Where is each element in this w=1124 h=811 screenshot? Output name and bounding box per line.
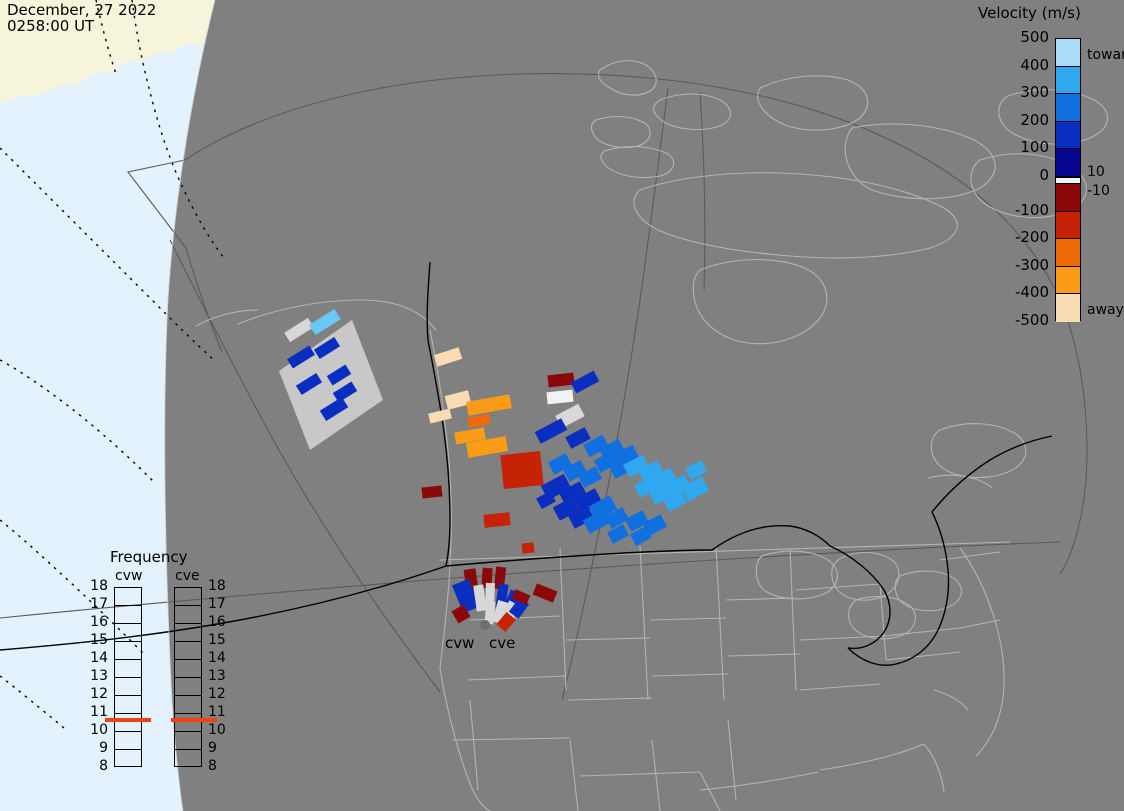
velocity-band-5 xyxy=(1056,184,1080,212)
velocity-band-3 xyxy=(1056,122,1080,150)
frequency-segment-0 xyxy=(115,588,141,606)
velocity-tick-400: 400 xyxy=(989,58,1049,73)
frequency-segment-6 xyxy=(115,696,141,714)
velocity-band-6 xyxy=(1056,212,1080,240)
frequency-tick-right-15: 15 xyxy=(208,633,234,647)
velocity-legend-title: Velocity (m/s) xyxy=(978,4,1081,22)
frequency-segment-7 xyxy=(175,714,201,732)
frequency-tick-left-17: 17 xyxy=(82,597,108,611)
frequency-tick-left-12: 12 xyxy=(82,687,108,701)
frequency-segment-6 xyxy=(175,696,201,714)
frequency-segment-4 xyxy=(115,660,141,678)
site-label-cvw: cvw xyxy=(445,634,474,652)
velocity-band-0 xyxy=(1056,39,1080,67)
frequency-segment-9 xyxy=(115,750,141,768)
frequency-segment-9 xyxy=(175,750,201,768)
velocity-tick--300: -300 xyxy=(989,258,1049,273)
velocity-tick-300: 300 xyxy=(989,85,1049,100)
frequency-bar-cve[interactable] xyxy=(174,587,202,767)
frequency-tick-right-16: 16 xyxy=(208,615,234,629)
velocity-tick--500: -500 xyxy=(989,313,1049,328)
velocity-band-9 xyxy=(1056,294,1080,322)
frequency-segment-5 xyxy=(175,678,201,696)
frequency-column-title-cvw: cvw xyxy=(115,568,142,584)
frequency-bar-cvw[interactable] xyxy=(114,587,142,767)
velocity-band-1 xyxy=(1056,67,1080,95)
frequency-tick-left-14: 14 xyxy=(82,651,108,665)
velocity-band-7 xyxy=(1056,239,1080,267)
frequency-segment-2 xyxy=(175,624,201,642)
frequency-segment-2 xyxy=(115,624,141,642)
velocity-band-4 xyxy=(1056,149,1080,177)
site-label-cve: cve xyxy=(489,634,515,652)
velocity-away-label: away xyxy=(1087,303,1124,317)
frequency-segment-3 xyxy=(115,642,141,660)
frequency-segment-1 xyxy=(115,606,141,624)
velocity-tick-500: 500 xyxy=(989,30,1049,45)
velocity-toward-label: toward xyxy=(1087,48,1124,62)
velocity-zero-band xyxy=(1056,177,1080,184)
frequency-tick-right-17: 17 xyxy=(208,597,234,611)
frequency-marker-cvw xyxy=(105,718,151,722)
radar-site-marker[interactable] xyxy=(480,620,490,630)
frequency-tick-left-10: 10 xyxy=(82,723,108,737)
frequency-tick-right-8: 8 xyxy=(208,759,234,773)
frequency-tick-left-16: 16 xyxy=(82,615,108,629)
frequency-tick-left-9: 9 xyxy=(82,741,108,755)
frequency-tick-right-10: 10 xyxy=(208,723,234,737)
frequency-segment-8 xyxy=(115,732,141,750)
velocity-tick--100: -100 xyxy=(989,203,1049,218)
frequency-tick-right-12: 12 xyxy=(208,687,234,701)
velocity-tick--400: -400 xyxy=(989,285,1049,300)
frequency-tick-right-13: 13 xyxy=(208,669,234,683)
frequency-tick-right-18: 18 xyxy=(208,579,234,593)
frequency-tick-left-13: 13 xyxy=(82,669,108,683)
radar-site-layer xyxy=(0,0,1124,811)
frequency-segment-8 xyxy=(175,732,201,750)
superdarn-map-view: cvw cve December, 27 2022 0258:00 UT Vel… xyxy=(0,0,1124,811)
timestamp-text: December, 27 2022 0258:00 UT xyxy=(7,2,156,34)
frequency-segment-7 xyxy=(115,714,141,732)
frequency-tick-right-14: 14 xyxy=(208,651,234,665)
frequency-legend-title: Frequency xyxy=(110,548,188,566)
frequency-segment-5 xyxy=(115,678,141,696)
frequency-column-title-cve: cve xyxy=(175,568,200,584)
velocity-tick-0: 0 xyxy=(989,168,1049,183)
frequency-tick-left-8: 8 xyxy=(82,759,108,773)
velocity-zero-upper-label: 10 xyxy=(1087,165,1105,179)
velocity-tick-200: 200 xyxy=(989,113,1049,128)
frequency-tick-left-18: 18 xyxy=(82,579,108,593)
frequency-tick-left-11: 11 xyxy=(82,705,108,719)
frequency-segment-0 xyxy=(175,588,201,606)
frequency-tick-left-15: 15 xyxy=(82,633,108,647)
frequency-tick-right-11: 11 xyxy=(208,705,234,719)
frequency-segment-1 xyxy=(175,606,201,624)
frequency-segment-3 xyxy=(175,642,201,660)
frequency-segment-4 xyxy=(175,660,201,678)
velocity-band-8 xyxy=(1056,267,1080,295)
velocity-band-2 xyxy=(1056,94,1080,122)
velocity-tick--200: -200 xyxy=(989,230,1049,245)
velocity-zero-lower-label: -10 xyxy=(1087,184,1110,198)
velocity-tick-100: 100 xyxy=(989,140,1049,155)
frequency-tick-right-9: 9 xyxy=(208,741,234,755)
velocity-colorbar[interactable] xyxy=(1055,38,1081,321)
